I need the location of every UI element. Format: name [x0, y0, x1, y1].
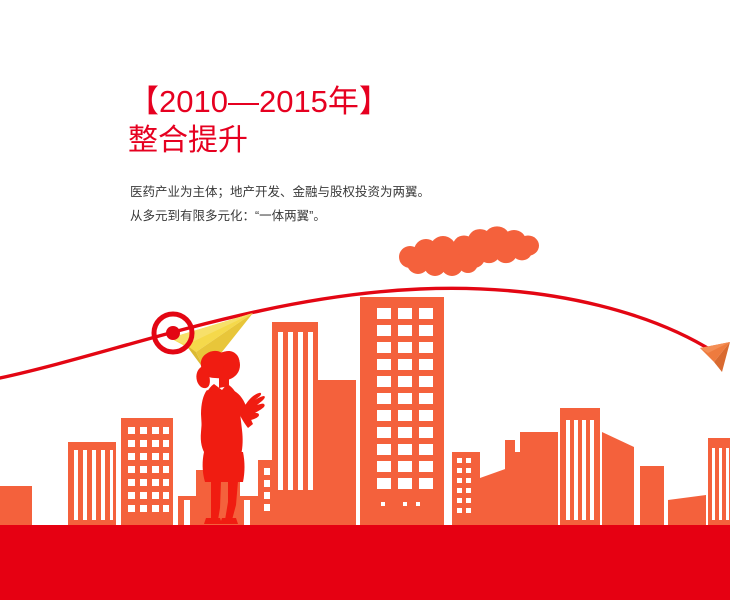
page-title-line-1: 【2010—2015年】: [128, 84, 390, 120]
page-title-line-2: 整合提升: [128, 122, 390, 160]
body-text-line-2: 从多元到有限多元化：“一体两翼”。: [130, 204, 430, 228]
body-text-block: 医药产业为主体；地产开发、金融与股权投资为两翼。 从多元到有限多元化：“一体两翼…: [130, 180, 430, 228]
slide-canvas: 【2010—2015年】 整合提升 医药产业为主体；地产开发、金融与股权投资为两…: [0, 0, 730, 600]
heading-block: 【2010—2015年】 整合提升: [128, 84, 390, 160]
footer-bar: [0, 525, 730, 600]
body-text-line-1: 医药产业为主体；地产开发、金融与股权投资为两翼。: [130, 180, 430, 204]
